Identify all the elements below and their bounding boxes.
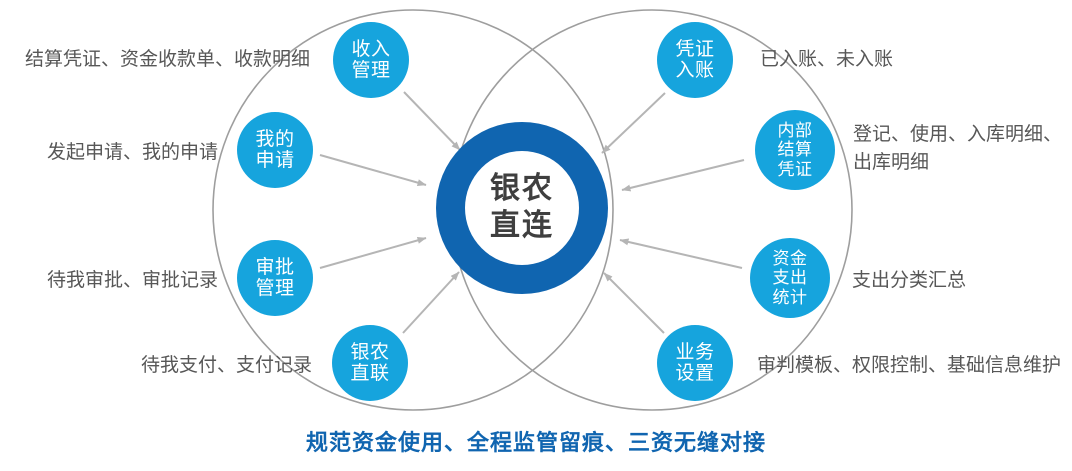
node-business-settings-line-1: 业务 [675,342,714,363]
hub-line-1: 银农 [490,171,554,208]
node-income-management-line-1: 收入 [351,39,390,60]
node-fund-expenditure-statistics[interactable]: 资金 支出 统计 [750,238,830,318]
arrow-fund-expenditure-statistics [620,240,742,268]
node-internal-settlement-voucher[interactable]: 内部 结算 凭证 [755,110,835,190]
diagram-root: 银农 直连 收入 管理 结算凭证、资金收款单、收款明细 我的 申请 发起申请、我… [0,0,1072,471]
arrow-business-settings [604,273,664,333]
arrow-voucher-entry [602,93,665,153]
node-income-management[interactable]: 收入 管理 [333,22,409,98]
node-my-application-line-2: 申请 [255,150,294,171]
node-internal-settlement-voucher-line-1: 内部 [778,121,813,140]
arrow-income-management [404,92,460,150]
label-voucher-entry: 已入账、未入账 [760,46,1020,74]
node-fund-expenditure-statistics-line-1: 资金 [773,249,808,268]
node-my-application[interactable]: 我的 申请 [237,112,313,188]
node-business-settings-line-2: 设置 [675,363,714,384]
hub-inner: 银农 直连 [465,151,579,265]
node-voucher-entry-line-1: 凭证 [675,39,714,60]
node-voucher-entry[interactable]: 凭证 入账 [657,22,733,98]
node-internal-settlement-voucher-line-3: 凭证 [778,160,813,179]
label-my-application: 发起申请、我的申请 [0,139,218,167]
node-internal-settlement-voucher-line-2: 结算 [778,140,813,159]
node-bank-direct-connect-line-1: 银农 [350,342,389,363]
hub-ring: 银农 直连 [436,122,608,294]
arrow-my-application [320,155,426,185]
node-approval-management[interactable]: 审批 管理 [237,240,313,316]
node-voucher-entry-line-2: 入账 [675,60,714,81]
arrow-internal-settlement-voucher [622,160,744,190]
node-fund-expenditure-statistics-line-3: 统计 [773,288,808,307]
label-approval-management: 待我审批、审批记录 [0,267,218,295]
label-fund-expenditure-statistics: 支出分类汇总 [852,267,1067,295]
node-approval-management-line-1: 审批 [255,257,294,278]
label-business-settings: 审判模板、权限控制、基础信息维护 [757,352,1072,380]
node-income-management-line-2: 管理 [351,60,390,81]
label-bank-direct-connect: 待我支付、支付记录 [60,352,312,380]
label-income-management: 结算凭证、资金收款单、收款明细 [0,46,310,74]
node-approval-management-line-2: 管理 [255,278,294,299]
diagram-caption: 规范资金使用、全程监管留痕、三资无缝对接 [0,425,1072,457]
hub-line-2: 直连 [490,208,554,245]
node-business-settings[interactable]: 业务 设置 [657,325,733,401]
arrow-bank-direct-connect [403,272,459,333]
node-bank-direct-connect[interactable]: 银农 直联 [332,325,408,401]
node-bank-direct-connect-line-2: 直联 [350,363,389,384]
label-internal-settlement-voucher: 登记、使用、入库明细、 出库明细 [853,121,1068,176]
node-fund-expenditure-statistics-line-2: 支出 [773,268,808,287]
arrow-approval-management [320,238,426,268]
node-my-application-line-1: 我的 [255,129,294,150]
